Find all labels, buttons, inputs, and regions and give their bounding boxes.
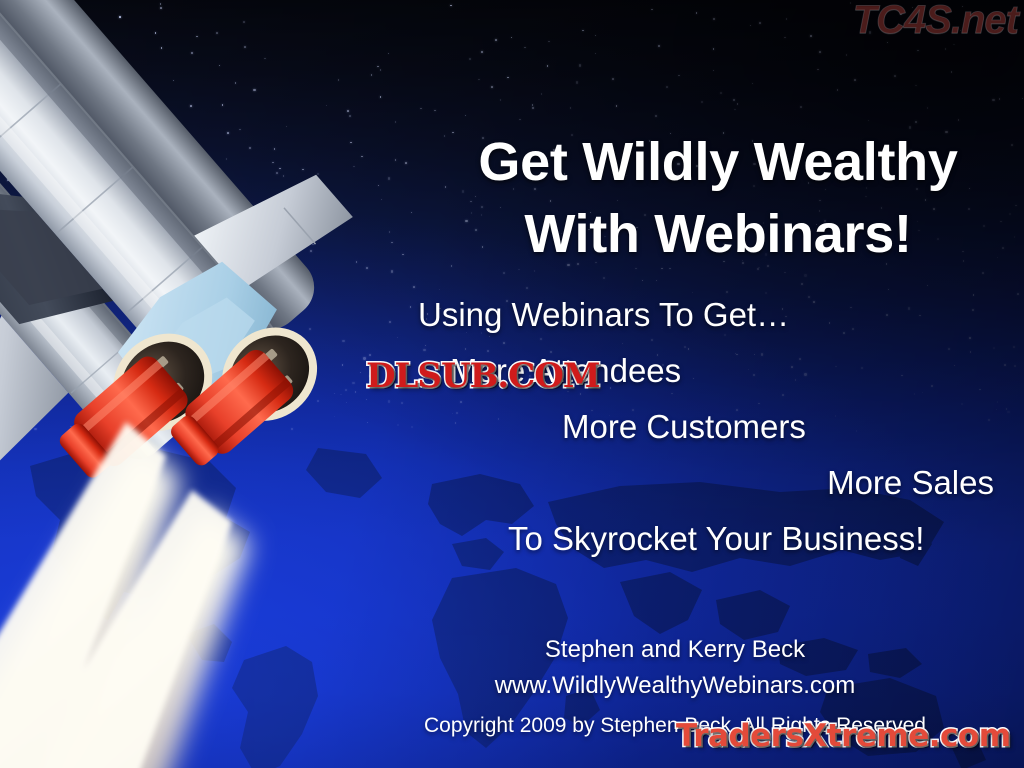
benefit-skyrocket: To Skyrocket Your Business! bbox=[330, 522, 1020, 578]
benefit-customers: More Customers bbox=[330, 410, 1020, 466]
headline-line-1: Get Wildly Wealthy bbox=[478, 132, 957, 192]
website-url: www.WildlyWealthyWebinars.com bbox=[330, 668, 1020, 704]
copyright-notice: Copyright 2009 by Stephen Beck, All Righ… bbox=[330, 714, 1020, 738]
benefit-intro: Using Webinars To Get… bbox=[330, 298, 1020, 354]
benefit-list: Using Webinars To Get… More Attendees Mo… bbox=[330, 298, 1020, 578]
headline-line-2: With Webinars! bbox=[420, 198, 1016, 270]
presentation-slide: Get Wildly Wealthy With Webinars! Using … bbox=[0, 0, 1024, 768]
benefit-sales: More Sales bbox=[330, 466, 1020, 522]
page-title: Get Wildly Wealthy With Webinars! bbox=[420, 126, 1016, 271]
author-names: Stephen and Kerry Beck bbox=[330, 632, 1020, 668]
benefit-hidden: More Attendees bbox=[330, 354, 1020, 410]
credits-block: Stephen and Kerry Beck www.WildlyWealthy… bbox=[330, 632, 1020, 705]
